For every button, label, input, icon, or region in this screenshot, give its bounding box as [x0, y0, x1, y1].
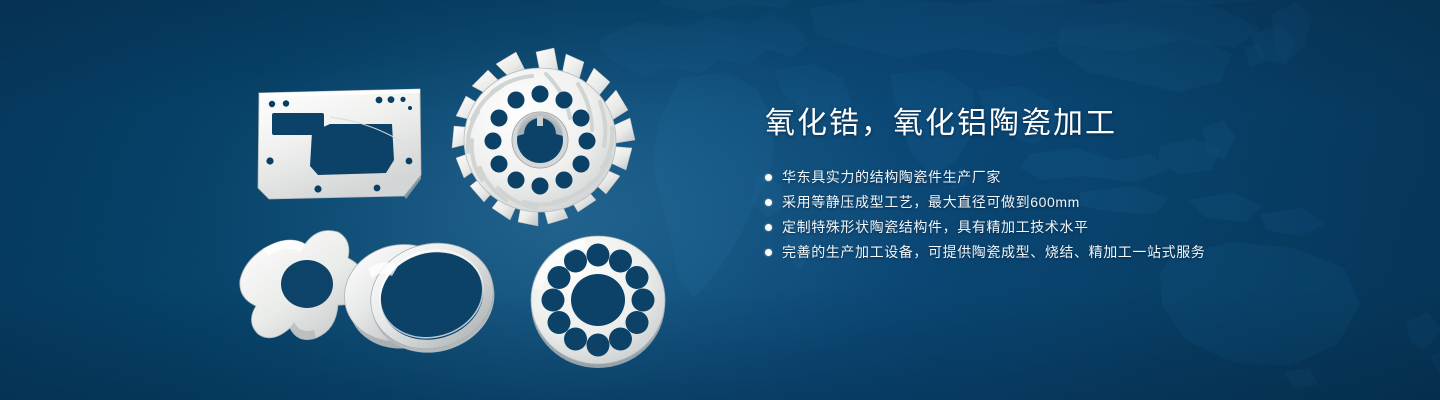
ceramic-impeller	[452, 48, 635, 226]
hero-banner: 氧化锆，氧化铝陶瓷加工 华东具实力的结构陶瓷件生产厂家 采用等静压成型工艺，最大…	[0, 0, 1440, 400]
feature-list: 华东具实力的结构陶瓷件生产厂家 采用等静压成型工艺，最大直径可做到600mm 定…	[765, 166, 1405, 263]
bullet-dot-icon	[765, 224, 772, 231]
ceramic-products-image	[0, 0, 760, 400]
ceramic-perforated-disc	[531, 236, 665, 368]
bullet-dot-icon	[765, 249, 772, 256]
ceramic-machined-plate	[258, 89, 421, 199]
list-item-label: 采用等静压成型工艺，最大直径可做到600mm	[782, 191, 1080, 213]
list-item: 完善的生产加工设备，可提供陶瓷成型、烧结、精加工一站式服务	[765, 241, 1405, 263]
list-item: 定制特殊形状陶瓷结构件，具有精加工技术水平	[765, 216, 1405, 238]
list-item-label: 定制特殊形状陶瓷结构件，具有精加工技术水平	[782, 216, 1089, 238]
banner-text-column: 氧化锆，氧化铝陶瓷加工 华东具实力的结构陶瓷件生产厂家 采用等静压成型工艺，最大…	[765, 104, 1405, 266]
page-title: 氧化锆，氧化铝陶瓷加工	[765, 104, 1405, 144]
list-item: 采用等静压成型工艺，最大直径可做到600mm	[765, 191, 1405, 213]
bullet-dot-icon	[765, 199, 772, 206]
bullet-dot-icon	[765, 174, 772, 181]
ceramic-ring	[334, 229, 507, 367]
list-item-label: 完善的生产加工设备，可提供陶瓷成型、烧结、精加工一站式服务	[782, 241, 1205, 263]
list-item-label: 华东具实力的结构陶瓷件生产厂家	[782, 166, 1001, 188]
list-item: 华东具实力的结构陶瓷件生产厂家	[765, 166, 1405, 188]
